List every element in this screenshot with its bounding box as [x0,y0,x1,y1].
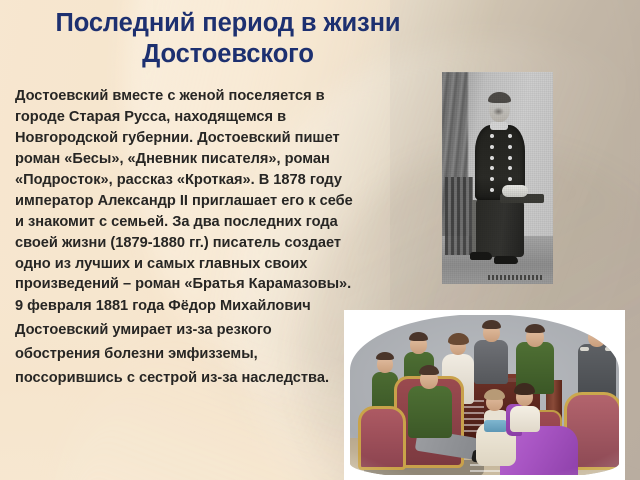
slide-title: Последний период в жизни Достоевского [26,8,430,70]
portrait-photo-caption [488,275,544,280]
body-paragraph-main: Достоевский вместе с женой поселяется в … [15,86,357,295]
body-paragraph-tail: 9 февраля 1881 года Фёдор Михайлович Дос… [15,295,357,390]
imperial-family-group-photo [344,310,625,480]
dostoevsky-portrait-photo [442,72,553,284]
slide-body-text: Достоевский вместе с женой поселяется в … [15,86,357,391]
slide: Последний период в жизни Достоевского До… [0,0,640,480]
family-photo-white-border [344,310,625,480]
portrait-scan-grain [442,72,553,284]
